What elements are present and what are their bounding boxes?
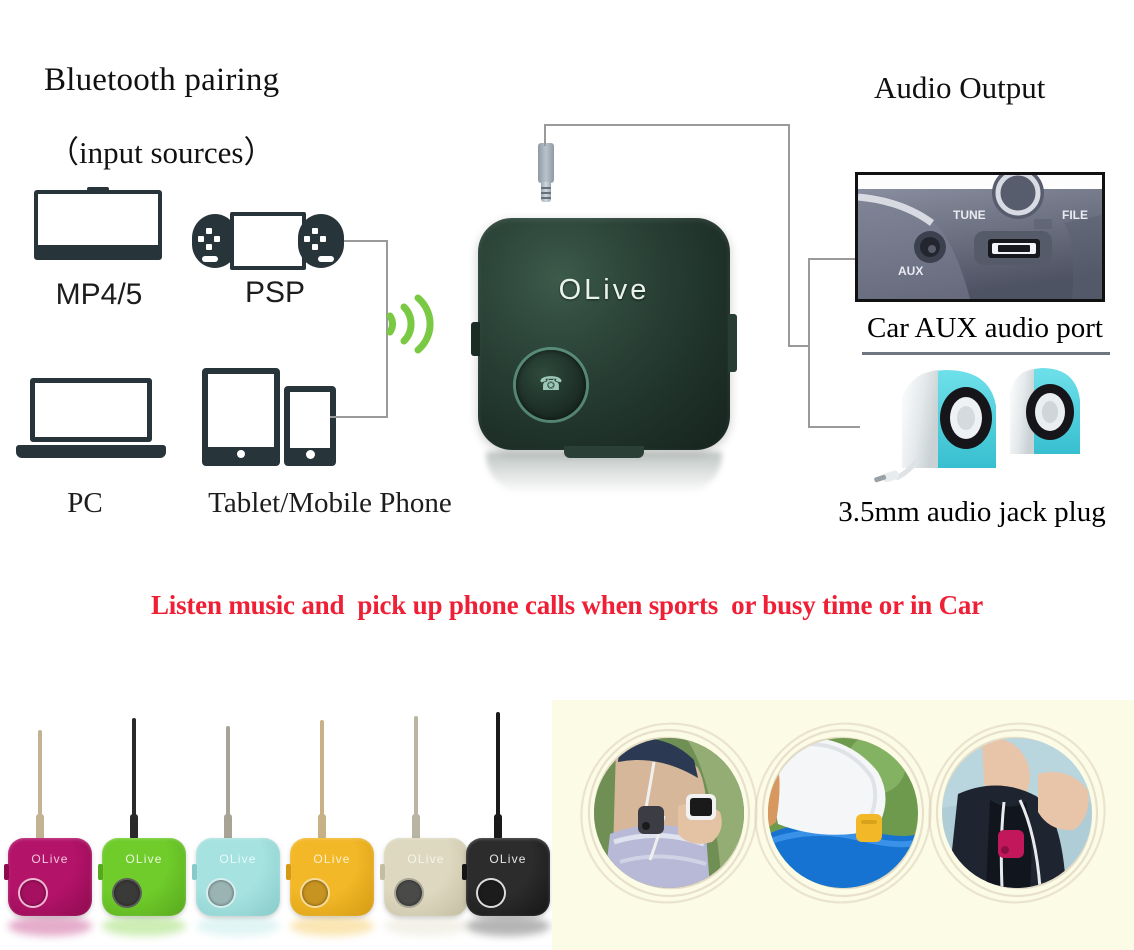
output-branch-to-speakers <box>808 426 860 428</box>
colorway-cable-plug <box>130 814 138 840</box>
jack-plug-icon <box>538 143 554 203</box>
media-player-icon <box>34 190 162 260</box>
input-source-label-mp4: MP4/5 <box>34 278 164 312</box>
colorway-reflection <box>102 916 186 936</box>
colorway-brand-logo: OLive <box>102 852 186 866</box>
bluetooth-waves-icon <box>382 288 438 360</box>
colorway-call-button[interactable] <box>208 880 234 906</box>
output-line-top <box>544 124 790 126</box>
infographic-page: Bluetooth pairing （input sources） Audio … <box>0 0 1134 950</box>
output-line-right-down <box>788 124 790 346</box>
phone-handset-icon: ☎ <box>536 377 566 393</box>
colorway-call-button[interactable] <box>396 880 422 906</box>
car-aux-label: Car AUX audio port <box>845 312 1125 345</box>
input-source-label-tablet: Tablet/Mobile Phone <box>185 487 475 520</box>
colorway-cable <box>132 718 136 838</box>
output-branch-vertical <box>808 258 810 428</box>
colorway-reflection <box>8 916 92 936</box>
bluetooth-pairing-heading: Bluetooth pairing <box>44 62 279 99</box>
colorway-cable-plug <box>494 814 502 840</box>
lifestyle-panel <box>552 700 1134 950</box>
lifestyle-photo-running-arm <box>594 738 744 888</box>
input-source-label-psp: PSP <box>210 276 340 310</box>
photo-label-tune: TUNE <box>953 208 986 222</box>
colorway-cable-plug <box>412 814 420 840</box>
colorway-brand-logo: OLive <box>8 852 92 866</box>
output-line-mid <box>788 345 810 347</box>
colorway-call-button[interactable] <box>20 880 46 906</box>
colorway-row: OLiveOLiveOLiveOLiveOLiveOLive <box>0 660 552 950</box>
colorway-side-button <box>286 864 291 880</box>
input-source-label-pc: PC <box>30 487 140 520</box>
colorway-cable-plug <box>318 814 326 840</box>
colorway-device-rose[interactable]: OLive <box>8 838 92 916</box>
colorway-cable <box>38 730 42 838</box>
colorway-side-button <box>98 864 103 880</box>
photo-label-file: FILE <box>1062 208 1088 222</box>
colorway-brand-logo: OLive <box>290 852 374 866</box>
laptop-icon <box>16 378 166 458</box>
colorway-reflection <box>196 916 280 936</box>
colorway-device-black[interactable]: OLive <box>466 838 550 916</box>
colorway-call-button[interactable] <box>478 880 504 906</box>
device-call-button[interactable]: ☎ <box>516 350 586 420</box>
colorway-side-button <box>4 864 9 880</box>
colorway-reflection <box>384 916 468 936</box>
colorway-cable <box>414 716 418 838</box>
device-brand-logo: OLive <box>478 274 730 307</box>
colorway-cable <box>496 712 500 838</box>
desktop-speakers-photo <box>862 356 1114 486</box>
colorway-reflection <box>466 916 550 936</box>
colorway-cable-plug <box>36 814 44 840</box>
photo-label-aux: AUX <box>898 264 923 278</box>
colorway-call-button[interactable] <box>302 880 328 906</box>
divider-rule <box>862 352 1110 355</box>
bluetooth-receiver-device: OLive ☎ <box>478 218 730 450</box>
colorway-reflection <box>290 916 374 936</box>
colorway-call-button[interactable] <box>114 880 140 906</box>
device-side-button <box>471 322 480 356</box>
output-line-up <box>544 124 546 146</box>
colorway-device-mint[interactable]: OLive <box>196 838 280 916</box>
input-sources-subheading: （input sources） <box>48 127 274 172</box>
colorway-side-button <box>192 864 197 880</box>
colorway-cable <box>226 726 230 838</box>
colorway-cable-plug <box>224 814 232 840</box>
audio-output-heading: Audio Output <box>874 70 1045 106</box>
tablet-phone-icon <box>202 368 337 466</box>
colorway-brand-logo: OLive <box>196 852 280 866</box>
colorway-brand-logo: OLive <box>466 852 550 866</box>
promo-banner-text: Listen music and pick up phone calls whe… <box>0 590 1134 621</box>
speakers-label: 3.5mm audio jack plug <box>812 496 1132 529</box>
colorway-brand-logo: OLive <box>384 852 468 866</box>
lifestyle-photo-cycling-pocket <box>768 738 918 888</box>
colorway-device-yellow[interactable]: OLive <box>290 838 374 916</box>
colorway-device-green[interactable]: OLive <box>102 838 186 916</box>
source-bracket-line <box>344 240 388 242</box>
output-branch-to-car <box>808 258 856 260</box>
device-side-panel <box>728 314 737 372</box>
colorway-cable <box>320 720 324 838</box>
device-reflection <box>486 452 722 494</box>
colorway-side-button <box>462 864 467 880</box>
car-aux-panel-photo: TUNE FILE AUX <box>855 172 1105 302</box>
source-bracket-line-lower <box>330 416 388 418</box>
colorway-device-khaki[interactable]: OLive <box>384 838 468 916</box>
handheld-console-icon <box>192 212 344 270</box>
colorway-side-button <box>380 864 385 880</box>
lifestyle-photo-gym-chest <box>942 738 1092 888</box>
